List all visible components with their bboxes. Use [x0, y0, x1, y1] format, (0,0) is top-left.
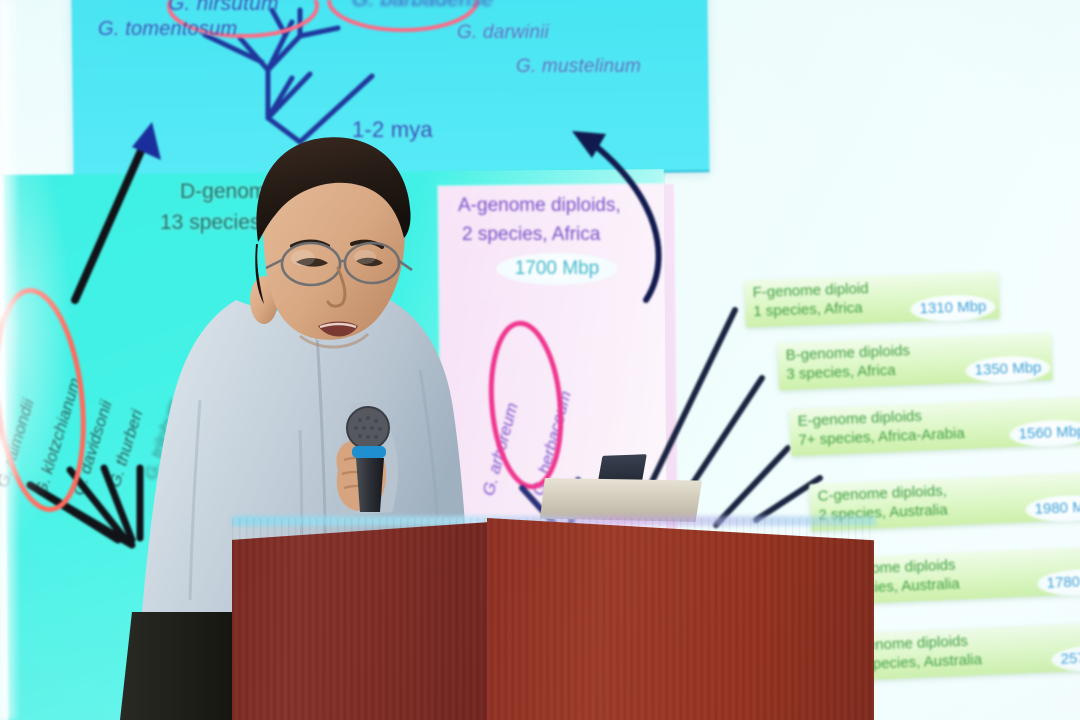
screenshot-root: G. hirsutum G. barbadense G. tomentosum … — [0, 0, 1080, 720]
speaker-trousers — [120, 612, 246, 720]
podium-left-face — [232, 522, 490, 720]
podium-right-face — [487, 518, 874, 720]
